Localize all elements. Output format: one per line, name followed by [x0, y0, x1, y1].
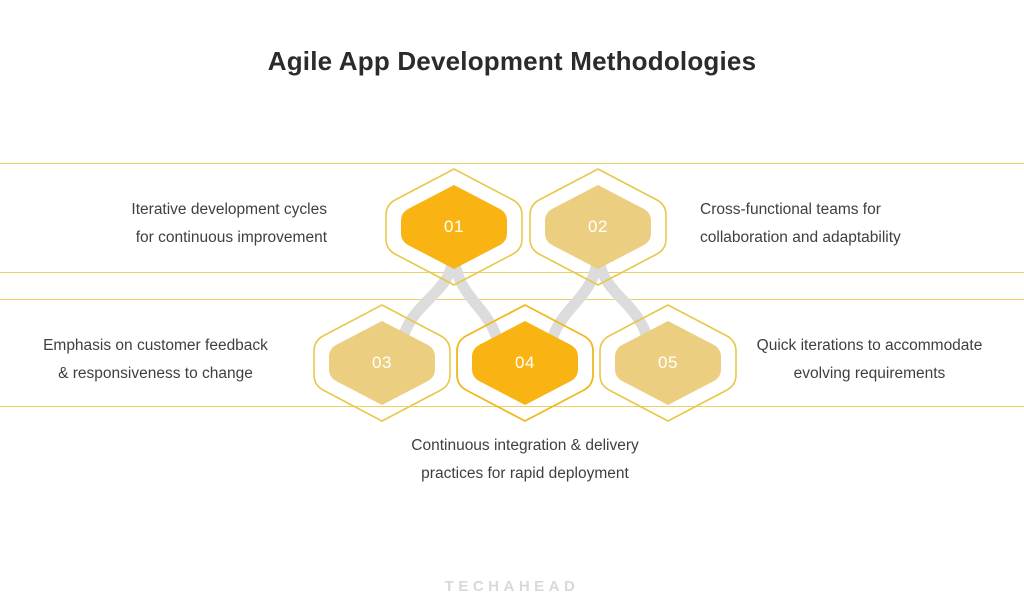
step-caption-01: Iterative development cycles for continu…	[30, 196, 327, 252]
step-number-02: 02	[524, 163, 672, 291]
step-caption-03: Emphasis on customer feedback & responsi…	[8, 332, 303, 388]
step-caption-05-line1: Quick iterations to accommodate	[722, 332, 1017, 360]
step-caption-02: Cross-functional teams for collaboration…	[700, 196, 1010, 252]
step-caption-04-line1: Continuous integration & delivery	[355, 432, 695, 460]
step-number-04: 04	[451, 299, 599, 427]
step-node-02[interactable]: 02	[524, 163, 672, 291]
step-caption-04-line2: practices for rapid deployment	[355, 460, 695, 488]
step-node-03[interactable]: 03	[308, 299, 456, 427]
step-caption-05: Quick iterations to accommodate evolving…	[722, 332, 1017, 388]
step-number-03: 03	[308, 299, 456, 427]
step-node-05[interactable]: 05	[594, 299, 742, 427]
step-caption-01-line1: Iterative development cycles	[30, 196, 327, 224]
step-caption-03-line1: Emphasis on customer feedback	[8, 332, 303, 360]
step-number-05: 05	[594, 299, 742, 427]
step-node-01[interactable]: 01	[380, 163, 528, 291]
step-caption-02-line1: Cross-functional teams for	[700, 196, 1010, 224]
step-caption-04: Continuous integration & delivery practi…	[355, 432, 695, 488]
step-number-01: 01	[380, 163, 528, 291]
step-caption-01-line2: for continuous improvement	[30, 224, 327, 252]
infographic-canvas: Agile App Development Methodologies 01 0…	[0, 0, 1024, 609]
step-node-04[interactable]: 04	[451, 299, 599, 427]
step-caption-03-line2: & responsiveness to change	[8, 360, 303, 388]
step-caption-02-line2: collaboration and adaptability	[700, 224, 1010, 252]
step-caption-05-line2: evolving requirements	[722, 360, 1017, 388]
